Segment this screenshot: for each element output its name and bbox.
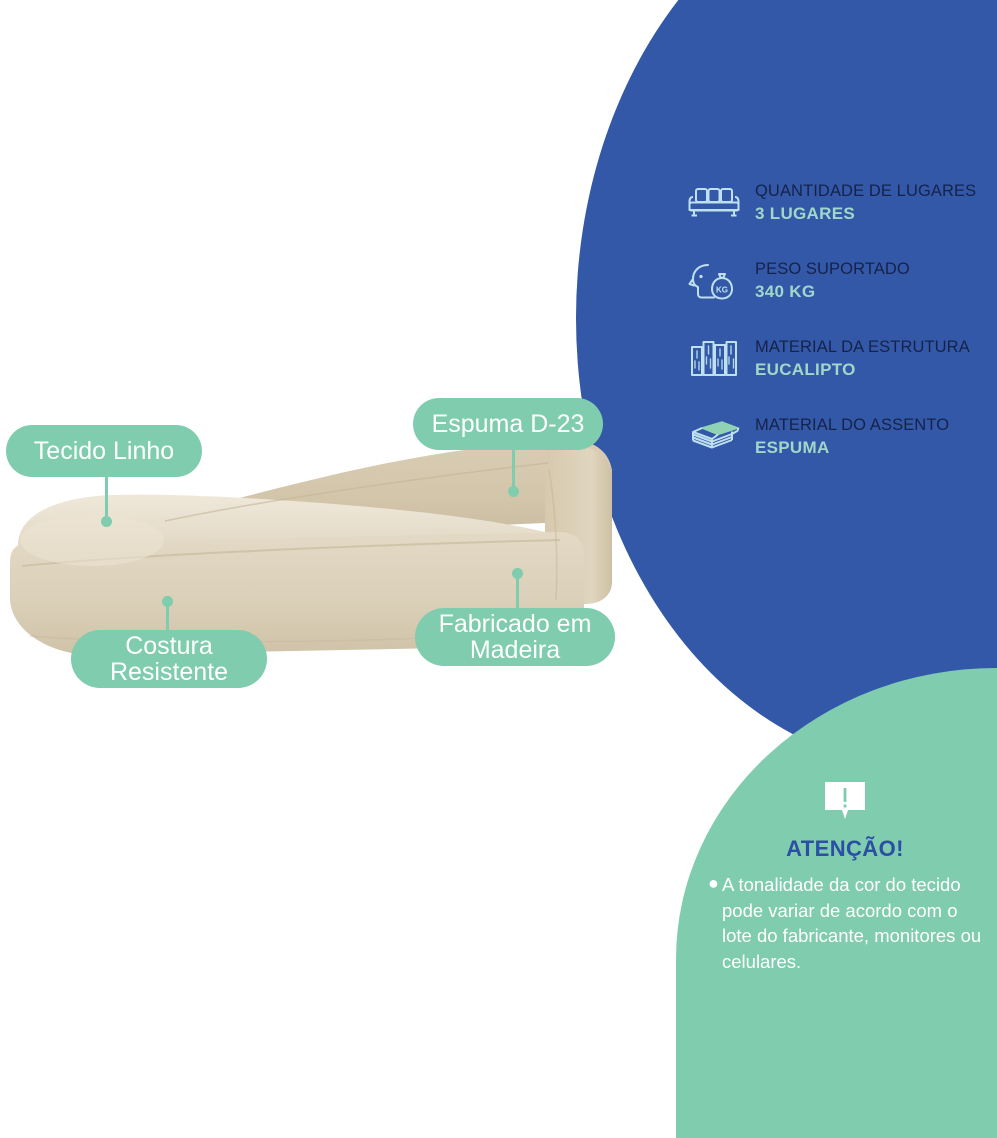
attention-text: A tonalidade da cor do tecido pode varia… [722, 874, 981, 972]
bullet-icon: ● [708, 871, 719, 896]
spec-label: PESO SUPORTADO [755, 260, 910, 279]
callout-costura-resistente: Costura Resistente [71, 630, 267, 688]
callout-fabricado-madeira: Fabricado em Madeira [415, 608, 615, 666]
sofa-icon [686, 180, 742, 226]
attention-block: ATENÇÃO! ● A tonalidade da cor do tecido… [700, 780, 990, 974]
attention-title: ATENÇÃO! [700, 836, 990, 862]
specifications-list: QUANTIDADE DE LUGARES 3 LUGARES KG PESO … [686, 180, 996, 492]
leader-dot [162, 596, 173, 607]
spec-row-material-assento: MATERIAL DO ASSENTO ESPUMA [686, 414, 996, 460]
spec-label: MATERIAL DO ASSENTO [755, 416, 949, 435]
spec-row-quantidade-lugares: QUANTIDADE DE LUGARES 3 LUGARES [686, 180, 996, 226]
leader-stem [105, 470, 108, 522]
spec-value: 3 LUGARES [755, 204, 976, 224]
leader-dot [512, 568, 523, 579]
foam-layers-icon [686, 414, 742, 460]
leader-stem [512, 444, 515, 492]
exclamation-bubble-icon [822, 780, 868, 822]
callout-label: Fabricado em Madeira [433, 611, 597, 663]
spec-text: MATERIAL DO ASSENTO ESPUMA [755, 416, 949, 458]
wood-planks-icon [686, 336, 742, 382]
spec-text: MATERIAL DA ESTRUTURA EUCALIPTO [755, 338, 970, 380]
spec-row-peso-suportado: KG PESO SUPORTADO 340 KG [686, 258, 996, 304]
svg-text:KG: KG [716, 286, 728, 295]
callout-label: Espuma D-23 [432, 411, 585, 437]
spec-label: QUANTIDADE DE LUGARES [755, 182, 976, 201]
callout-label: Costura Resistente [89, 633, 249, 685]
spec-label: MATERIAL DA ESTRUTURA [755, 338, 970, 357]
spec-text: QUANTIDADE DE LUGARES 3 LUGARES [755, 182, 976, 224]
callout-espuma-d23: Espuma D-23 [413, 398, 603, 450]
leader-dot [508, 486, 519, 497]
spec-value: ESPUMA [755, 438, 949, 458]
spec-value: 340 KG [755, 282, 910, 302]
spec-text: PESO SUPORTADO 340 KG [755, 260, 910, 302]
leader-dot [101, 516, 112, 527]
spec-row-material-estrutura: MATERIAL DA ESTRUTURA EUCALIPTO [686, 336, 996, 382]
attention-body: ● A tonalidade da cor do tecido pode var… [700, 872, 990, 974]
weight-person-icon: KG [686, 258, 742, 304]
callout-label: Tecido Linho [34, 438, 174, 464]
callout-tecido-linho: Tecido Linho [6, 425, 202, 477]
spec-value: EUCALIPTO [755, 360, 970, 380]
